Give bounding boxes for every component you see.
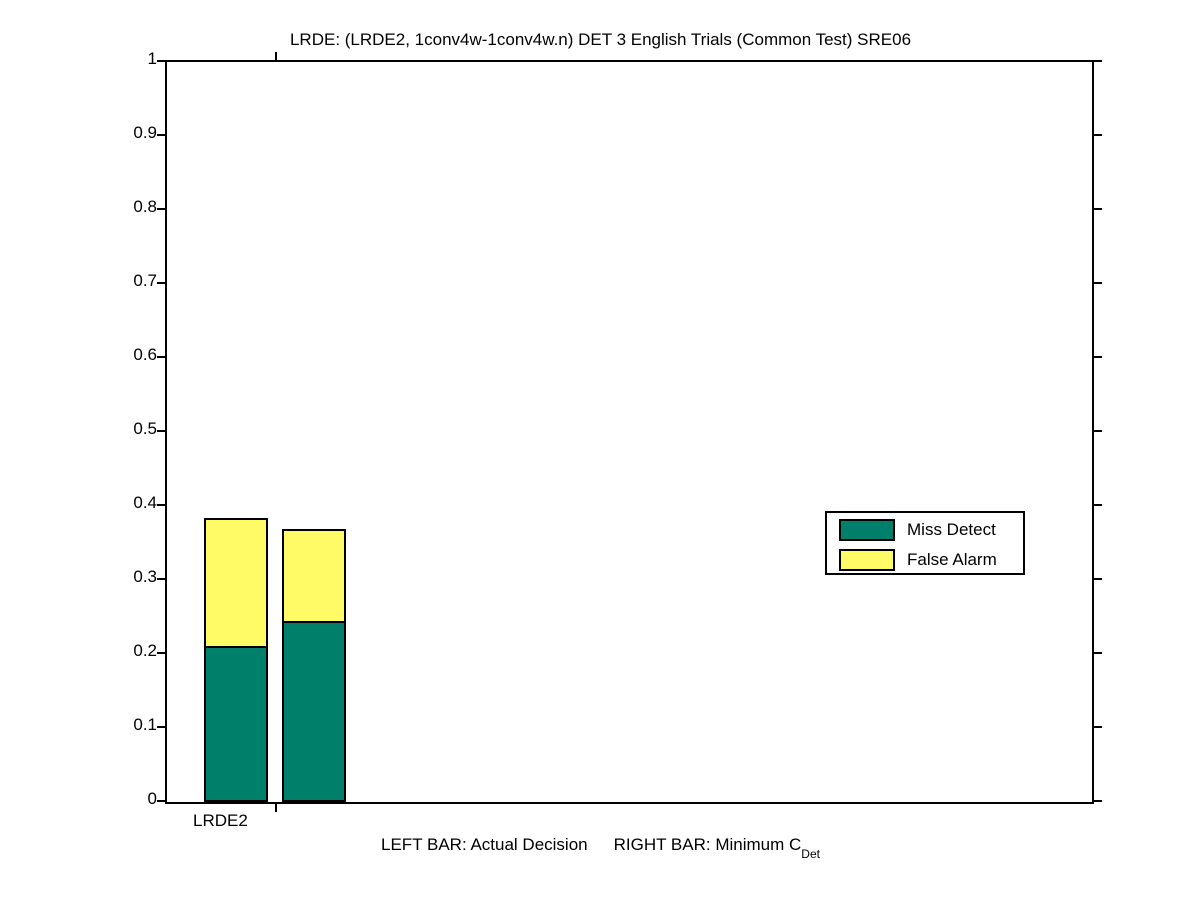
y-axis-label-0-2: 0.2 (57, 642, 157, 659)
y-tick-0 (157, 800, 167, 802)
y-axis-label-1: 1 (57, 50, 157, 67)
y-tick-0-1 (157, 726, 167, 728)
y-axis-label-0-9: 0.9 (57, 124, 157, 141)
y-tick-0-9 (157, 134, 167, 136)
y-tick-0-8 (157, 208, 167, 210)
plot-inner: Miss Detect False Alarm (167, 62, 1092, 802)
y-tick-0-5 (157, 430, 167, 432)
chart-caption: LEFT BAR: Actual DecisionRIGHT BAR: Mini… (0, 835, 1201, 855)
legend-item-false-alarm: False Alarm (827, 545, 1023, 573)
y-tick-1 (157, 60, 167, 62)
legend-label-false-alarm: False Alarm (907, 549, 997, 571)
y-tick-0-4 (157, 504, 167, 506)
y-tick-right-0 (1092, 800, 1102, 802)
y-tick-right-0-5 (1092, 430, 1102, 432)
y-tick-right-0-4 (1092, 504, 1102, 506)
y-tick-right-0-6 (1092, 356, 1102, 358)
x-tick-top-lrde2 (275, 52, 277, 62)
bar-actual-false-alarm (204, 518, 268, 648)
legend-label-miss-detect: Miss Detect (907, 519, 996, 541)
y-tick-0-6 (157, 356, 167, 358)
y-tick-right-0-7 (1092, 282, 1102, 284)
caption-right-part: RIGHT BAR: Minimum C (614, 835, 802, 854)
y-tick-0-3 (157, 578, 167, 580)
caption-left-part: LEFT BAR: Actual Decision (381, 835, 588, 854)
bar-actual-miss-detect (204, 646, 268, 802)
y-axis-label-0-5: 0.5 (57, 420, 157, 437)
y-axis-label-0-7: 0.7 (57, 272, 157, 289)
chart-figure: LRDE: (LRDE2, 1conv4w-1conv4w.n) DET 3 E… (0, 0, 1201, 900)
y-axis-label-0-4: 0.4 (57, 494, 157, 511)
legend-item-miss-detect: Miss Detect (827, 515, 1023, 543)
y-tick-right-0-2 (1092, 652, 1102, 654)
y-tick-right-0-1 (1092, 726, 1102, 728)
bar-mincdet-miss-detect (282, 621, 346, 802)
y-tick-right-0-9 (1092, 134, 1102, 136)
x-tick-lrde2 (275, 802, 277, 812)
y-axis-label-0: 0 (57, 790, 157, 807)
chart-legend: Miss Detect False Alarm (825, 511, 1025, 575)
y-tick-0-7 (157, 282, 167, 284)
y-axis-label-0-6: 0.6 (57, 346, 157, 363)
y-axis-label-0-3: 0.3 (57, 568, 157, 585)
bar-mincdet-false-alarm (282, 529, 346, 623)
chart-title: LRDE: (LRDE2, 1conv4w-1conv4w.n) DET 3 E… (0, 30, 1201, 50)
legend-swatch-miss-detect (839, 519, 895, 541)
caption-right-subscript: Det (801, 847, 820, 861)
y-tick-0-2 (157, 652, 167, 654)
y-tick-right-0-3 (1092, 578, 1102, 580)
plot-area: Miss Detect False Alarm (165, 60, 1094, 804)
x-axis-label-lrde2: LRDE2 (193, 812, 353, 829)
y-axis-label-0-8: 0.8 (57, 198, 157, 215)
y-axis-label-0-1: 0.1 (57, 716, 157, 733)
y-tick-right-0-8 (1092, 208, 1102, 210)
y-tick-right-1 (1092, 60, 1102, 62)
legend-swatch-false-alarm (839, 549, 895, 571)
